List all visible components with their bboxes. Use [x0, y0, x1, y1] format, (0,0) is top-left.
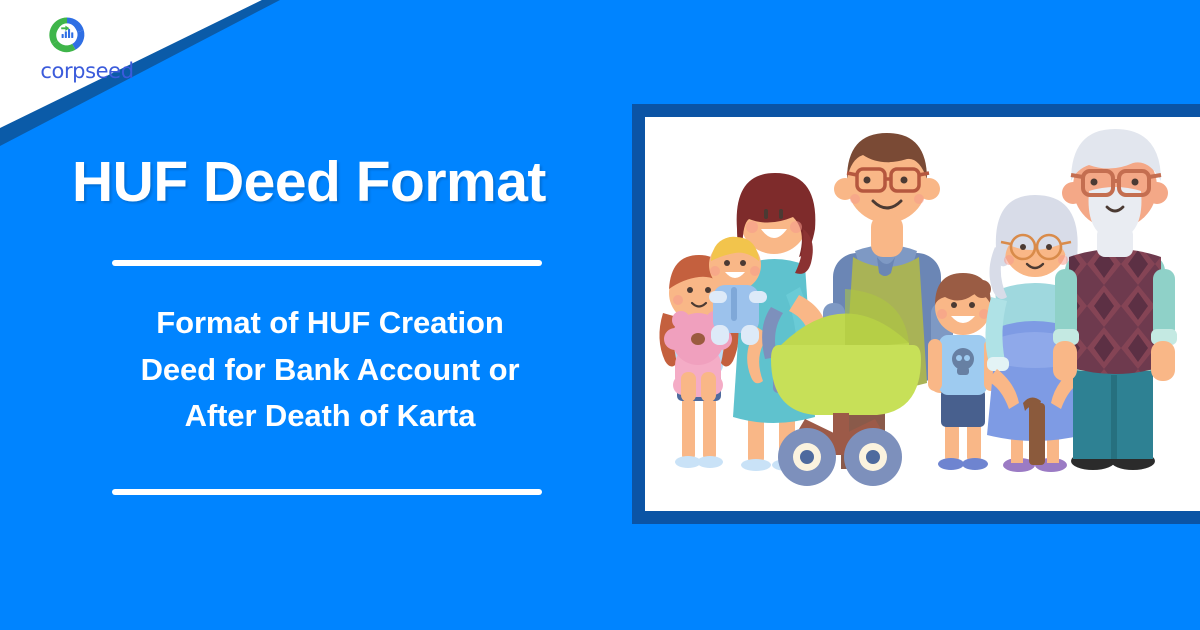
illustration-frame — [632, 104, 1200, 524]
brand-wordmark: corpseed — [27, 59, 147, 83]
subtitle-line-2: Deed for Bank Account or — [60, 347, 600, 394]
hero-text-block: HUF Deed Format Format of HUF Creation D… — [0, 0, 640, 630]
subtitle-line-1: Format of HUF Creation — [60, 300, 600, 347]
corpseed-logo-icon — [45, 13, 89, 57]
divider-top — [112, 260, 542, 266]
brand-logo[interactable]: corpseed — [27, 13, 147, 83]
page-title: HUF Deed Format — [72, 152, 612, 214]
banner-canvas: corpseed HUF Deed Format Format of HUF C… — [0, 0, 1200, 630]
family-illustration — [645, 117, 1200, 511]
divider-bottom — [112, 489, 542, 495]
subtitle-line-3: After Death of Karta — [60, 393, 600, 440]
page-subtitle: Format of HUF Creation Deed for Bank Acc… — [60, 300, 600, 440]
